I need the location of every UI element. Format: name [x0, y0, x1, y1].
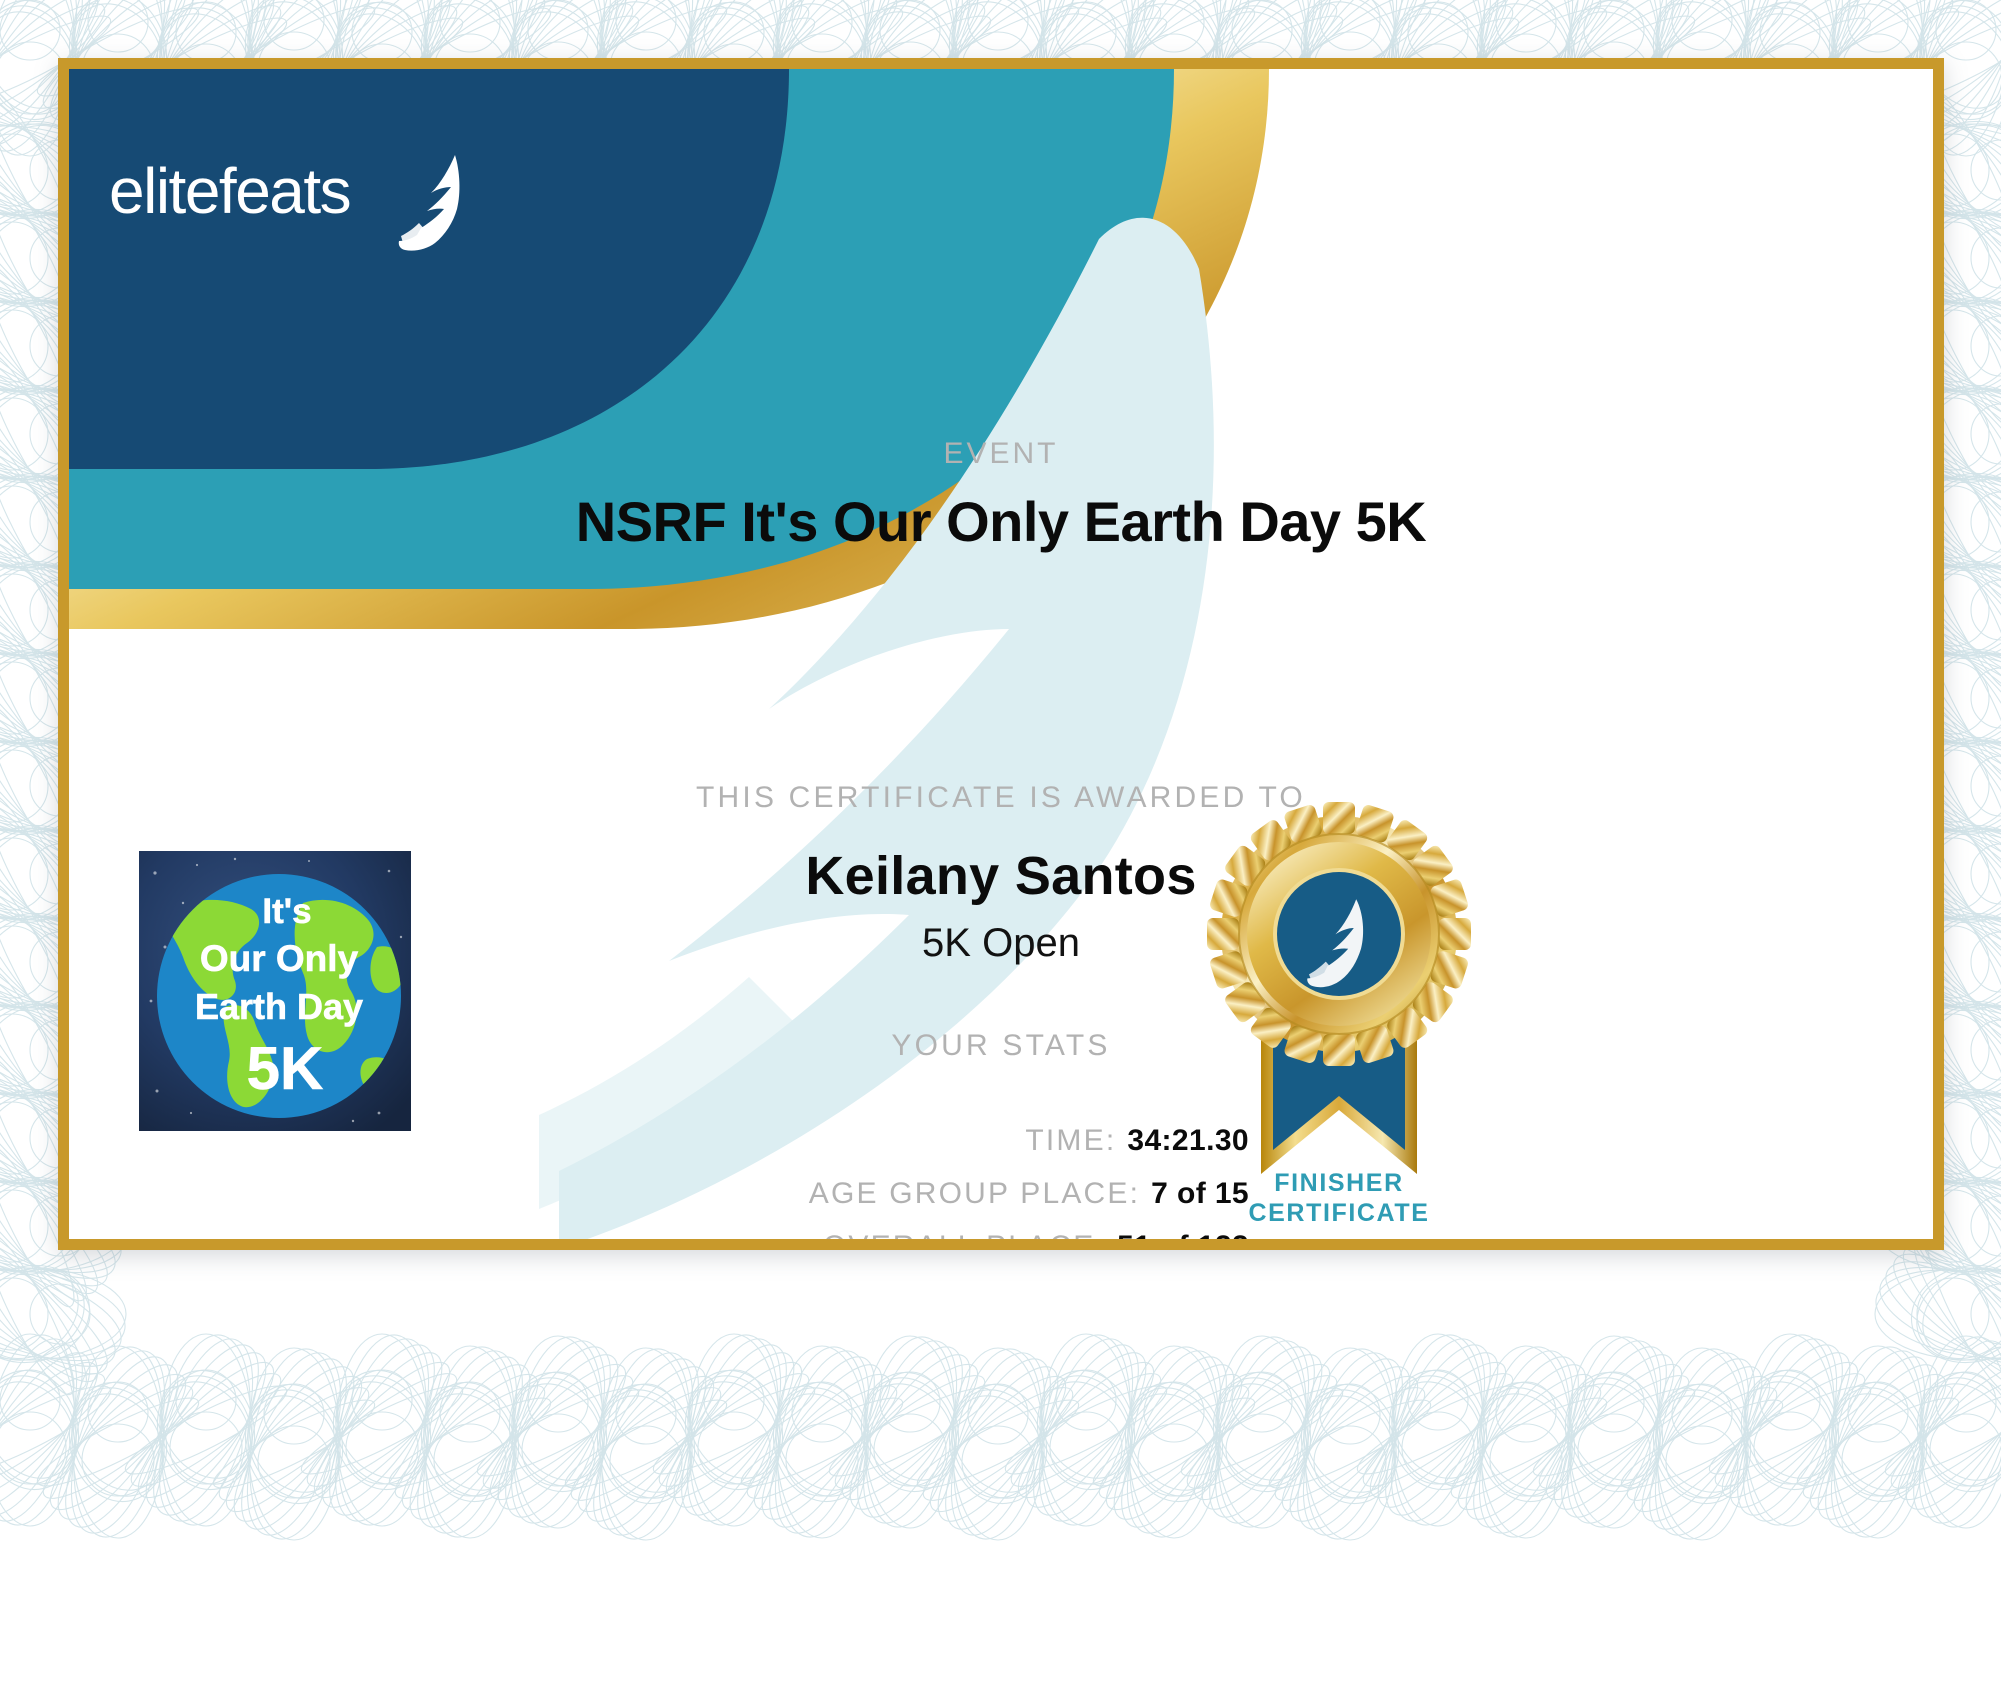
svg-text:It's: It's: [262, 892, 311, 931]
badge-caption-line2: CERTIFICATE: [1159, 1199, 1519, 1229]
certificate-frame: elitefeats EVENT NSRF It's Our Only Eart…: [58, 58, 1944, 1250]
stats-list: TIME: 34:21.30 AGE GROUP PLACE: 7 of 15 …: [449, 1114, 1249, 1239]
stat-row-age-group-place: AGE GROUP PLACE: 7 of 15: [449, 1167, 1249, 1220]
stat-key: OVERALL PLACE:: [823, 1220, 1106, 1239]
certificate-content: EVENT NSRF It's Our Only Earth Day 5K TH…: [69, 69, 1933, 1239]
svg-text:5K: 5K: [247, 1035, 324, 1102]
stat-key: AGE GROUP PLACE:: [809, 1167, 1140, 1220]
badge-caption: FINISHER CERTIFICATE: [1159, 1169, 1519, 1228]
event-name: NSRF It's Our Only Earth Day 5K: [69, 489, 1933, 554]
badge-medal: [1207, 802, 1471, 1066]
stat-row-time: TIME: 34:21.30: [449, 1114, 1249, 1167]
stat-key: TIME:: [1025, 1114, 1116, 1167]
certificate-body: elitefeats EVENT NSRF It's Our Only Eart…: [69, 69, 1933, 1239]
svg-text:Earth Day: Earth Day: [195, 986, 363, 1027]
awarded-to-label: THIS CERTIFICATE IS AWARDED TO: [69, 781, 1933, 815]
event-label: EVENT: [69, 437, 1933, 471]
svg-text:Our Only: Our Only: [200, 938, 359, 979]
certificate-page: elitefeats EVENT NSRF It's Our Only Eart…: [0, 0, 2001, 1700]
badge-caption-line1: FINISHER: [1159, 1169, 1519, 1199]
event-logo-image: It's Our Only Earth Day 5K: [139, 851, 411, 1131]
stat-row-overall-place: OVERALL PLACE: 51 of 122: [449, 1220, 1249, 1239]
